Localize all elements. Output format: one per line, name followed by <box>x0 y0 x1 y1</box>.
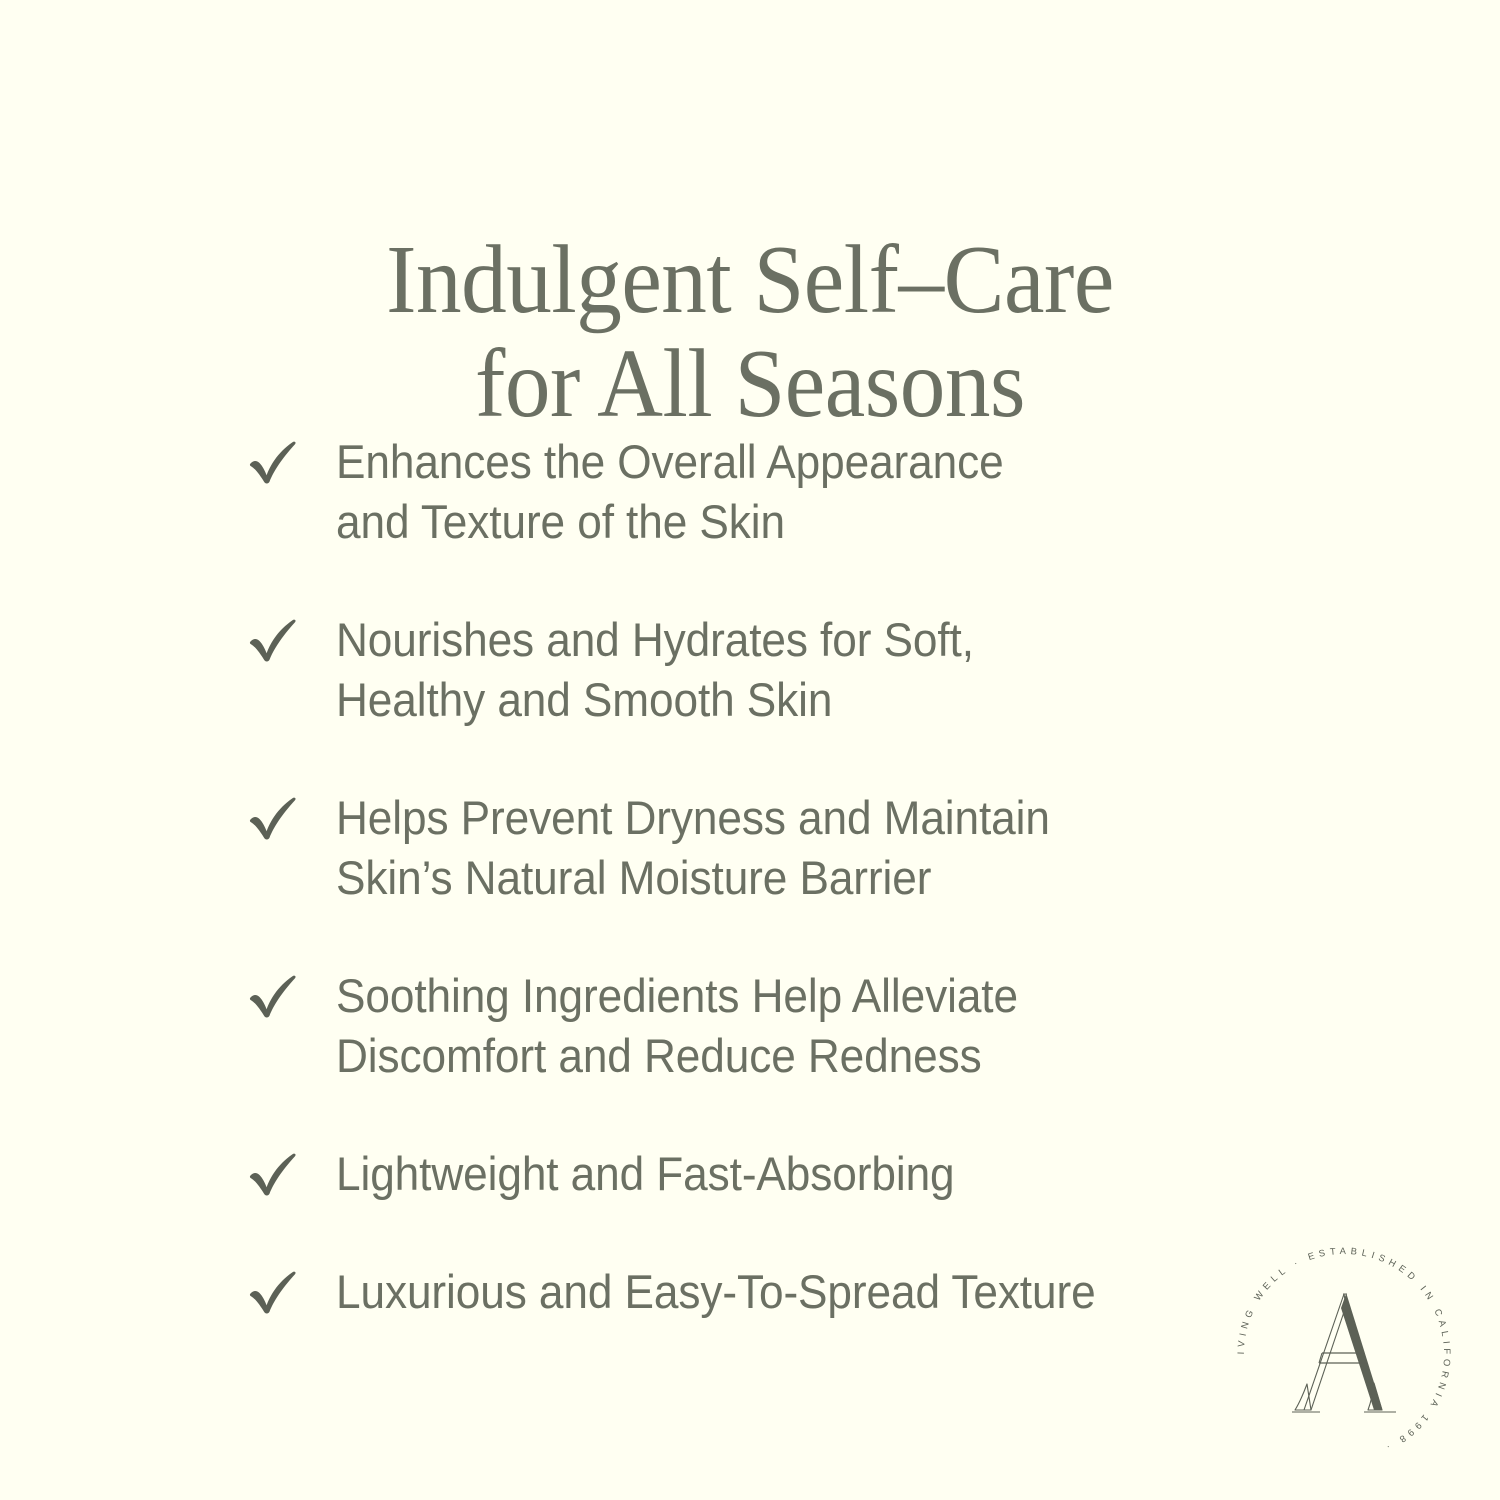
list-item-label: Lightweight and Fast-Absorbing <box>336 1144 1156 1204</box>
check-icon <box>248 788 336 840</box>
check-icon <box>248 966 336 1018</box>
list-item-label: Soothing Ingredients Help Alleviate Disc… <box>336 966 1156 1086</box>
list-item: Lightweight and Fast-Absorbing <box>248 1144 1208 1204</box>
page-title-line-1: Indulgent Self–Care <box>53 228 1448 332</box>
check-icon <box>248 432 336 484</box>
list-item: Soothing Ingredients Help Alleviate Disc… <box>248 966 1208 1086</box>
list-item-label: Nourishes and Hydrates for Soft, Healthy… <box>336 610 1156 730</box>
list-item: Enhances the Overall Appearance and Text… <box>248 432 1208 552</box>
benefits-list: Enhances the Overall Appearance and Text… <box>248 432 1208 1322</box>
list-item-label: Luxurious and Easy-To-Spread Texture <box>336 1262 1156 1322</box>
poster-canvas: Indulgent Self–Care for All Seasons Enha… <box>0 0 1500 1500</box>
page-title-line-2: for All Seasons <box>53 332 1448 436</box>
list-item: Helps Prevent Dryness and Maintain Skin’… <box>248 788 1208 908</box>
brand-logo-badge: THE ART OF LIVING WELL · ESTABLISHED IN … <box>1218 1228 1470 1480</box>
logo-ring-text: THE ART OF LIVING WELL · ESTABLISHED IN … <box>1218 1228 1453 1455</box>
list-item-label: Helps Prevent Dryness and Maintain Skin’… <box>336 788 1156 908</box>
check-icon <box>248 1262 336 1314</box>
logo-monogram-a <box>1292 1294 1396 1412</box>
list-item: Nourishes and Hydrates for Soft, Healthy… <box>248 610 1208 730</box>
list-item-label: Enhances the Overall Appearance and Text… <box>336 432 1156 552</box>
check-icon <box>248 1144 336 1196</box>
check-icon <box>248 610 336 662</box>
page-title: Indulgent Self–Care for All Seasons <box>53 228 1448 436</box>
list-item: Luxurious and Easy-To-Spread Texture <box>248 1262 1208 1322</box>
